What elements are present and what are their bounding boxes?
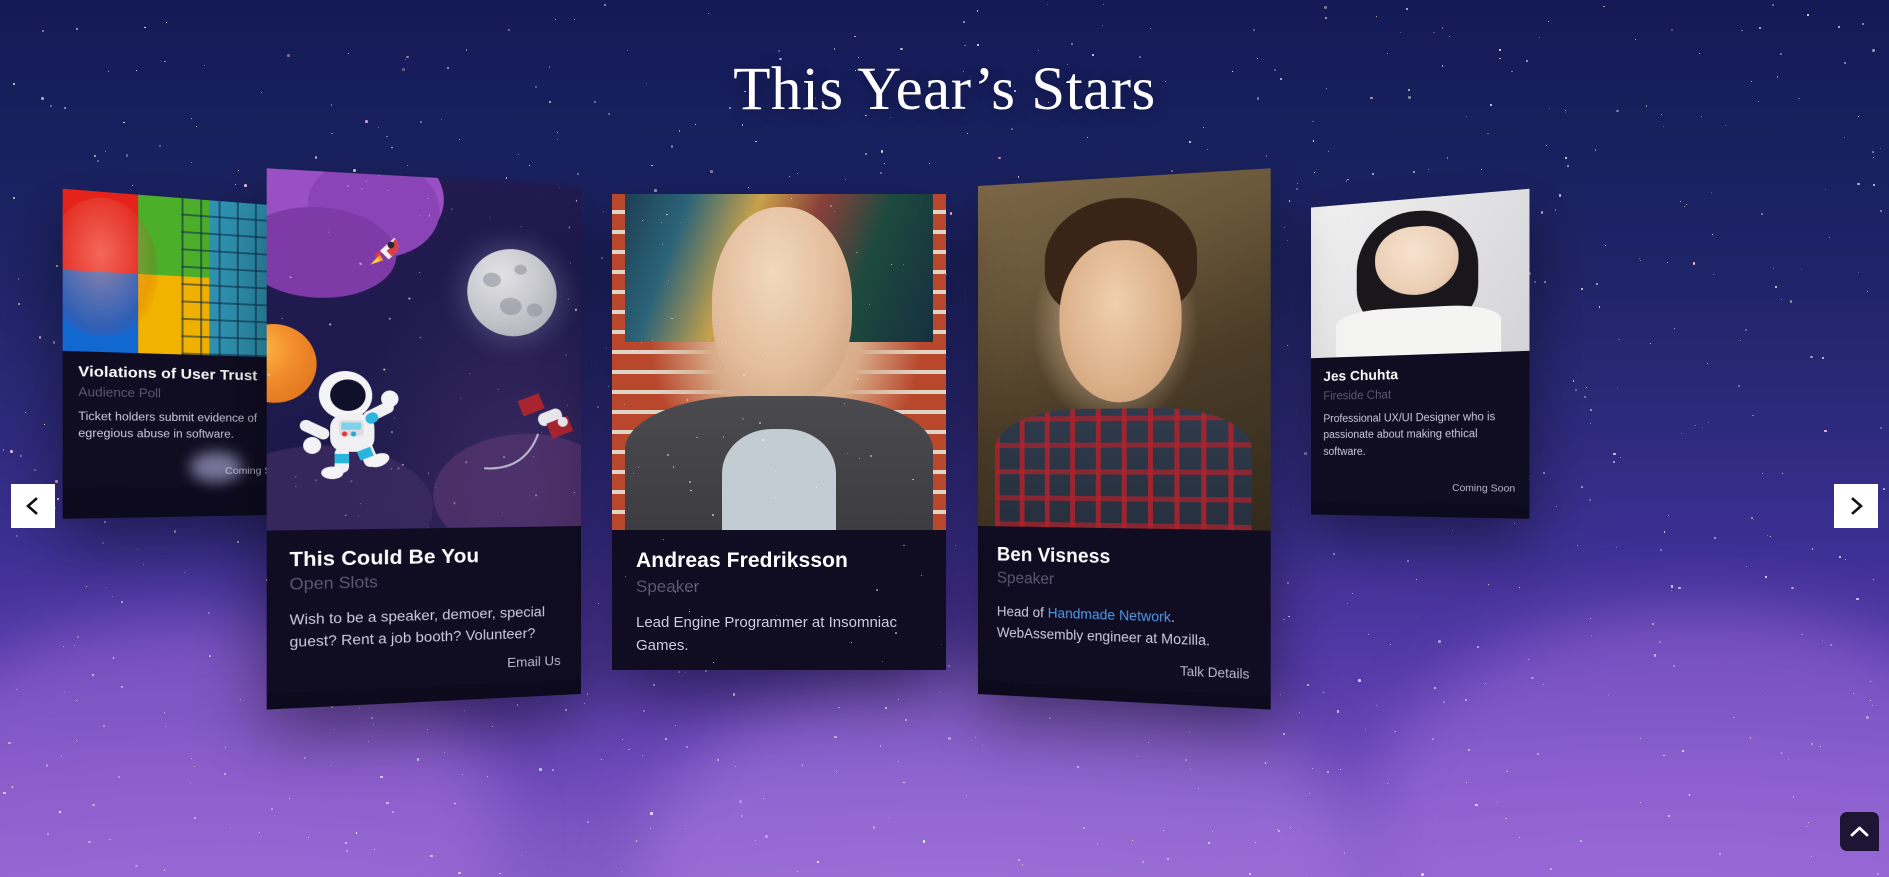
card-media xyxy=(612,194,946,530)
card-role: Speaker xyxy=(997,569,1250,597)
card-title: Andreas Fredriksson xyxy=(636,548,922,574)
card-description: Professional UX/UI Designer who is passi… xyxy=(1323,409,1515,461)
page-background: This Year’s Stars Violations of User Tru… xyxy=(0,0,1889,877)
speaker-card[interactable]: This Could Be You Open Slots Wish to be … xyxy=(267,168,581,709)
chevron-left-icon xyxy=(23,496,43,516)
speaker-card[interactable]: Ben Visness Speaker Head of Handmade Net… xyxy=(978,168,1271,709)
card-title: Ben Visness xyxy=(997,542,1250,573)
card-media xyxy=(978,168,1271,530)
card-cta[interactable]: Coming Soon xyxy=(78,465,288,478)
card-title: This Could Be You xyxy=(290,542,561,573)
card-role: Fireside Chat xyxy=(1323,384,1515,404)
portrait-shirt xyxy=(722,429,836,530)
card-media xyxy=(267,168,581,530)
carousel-prev-button[interactable] xyxy=(11,484,55,528)
card-cta[interactable]: Talk Details xyxy=(997,655,1250,682)
chevron-right-icon xyxy=(1846,496,1866,516)
astronaut-space-illustration xyxy=(267,168,581,530)
card-title: Jes Chuhta xyxy=(1323,363,1515,386)
portrait-face xyxy=(1059,238,1182,403)
speaker-portrait-photo xyxy=(978,168,1271,530)
card-title: Violations of User Trust xyxy=(78,363,288,386)
card-media xyxy=(1311,189,1529,358)
card-role: Audience Poll xyxy=(78,384,288,404)
card-description: Ticket holders submit evidence of egregi… xyxy=(78,409,288,444)
portrait-shirt xyxy=(995,408,1252,531)
speaker-portrait-photo xyxy=(1311,189,1529,358)
card-role: Open Slots xyxy=(290,569,561,597)
speaker-card[interactable]: Jes Chuhta Fireside Chat Professional UX… xyxy=(1311,189,1529,519)
moon xyxy=(467,247,556,337)
handmade-network-link[interactable]: Handmade Network xyxy=(1048,604,1171,625)
astronaut-icon xyxy=(296,363,429,480)
scroll-to-top-button[interactable] xyxy=(1840,812,1879,851)
carousel-next-button[interactable] xyxy=(1834,484,1878,528)
speaker-carousel: Violations of User Trust Audience Poll T… xyxy=(0,0,1889,877)
card-description: Lead Engine Programmer at Insomniac Game… xyxy=(636,612,922,657)
card-cta[interactable]: Email Us xyxy=(290,653,561,680)
satellite-icon xyxy=(482,380,577,474)
card-description: Wish to be a speaker, demoer, special gu… xyxy=(290,601,561,654)
card-role: Speaker xyxy=(636,576,922,598)
chevron-up-icon xyxy=(1850,825,1869,838)
portrait-head xyxy=(712,207,852,402)
speaker-portrait-photo xyxy=(612,194,946,530)
card-body: Andreas Fredriksson Speaker Lead Engine … xyxy=(612,530,946,670)
card-body: This Could Be You Open Slots Wish to be … xyxy=(267,526,581,694)
card-description: Head of Handmade Network. WebAssembly en… xyxy=(997,601,1250,654)
card-body: Jes Chuhta Fireside Chat Professional UX… xyxy=(1311,351,1529,505)
description-prefix: Head of xyxy=(997,603,1048,621)
card-cta[interactable]: Coming Soon xyxy=(1323,481,1515,495)
rocket-icon xyxy=(361,228,409,276)
speaker-card-active[interactable]: Andreas Fredriksson Speaker Lead Engine … xyxy=(612,194,946,670)
card-body: Ben Visness Speaker Head of Handmade Net… xyxy=(978,526,1271,696)
portrait-shirt xyxy=(1336,304,1502,358)
